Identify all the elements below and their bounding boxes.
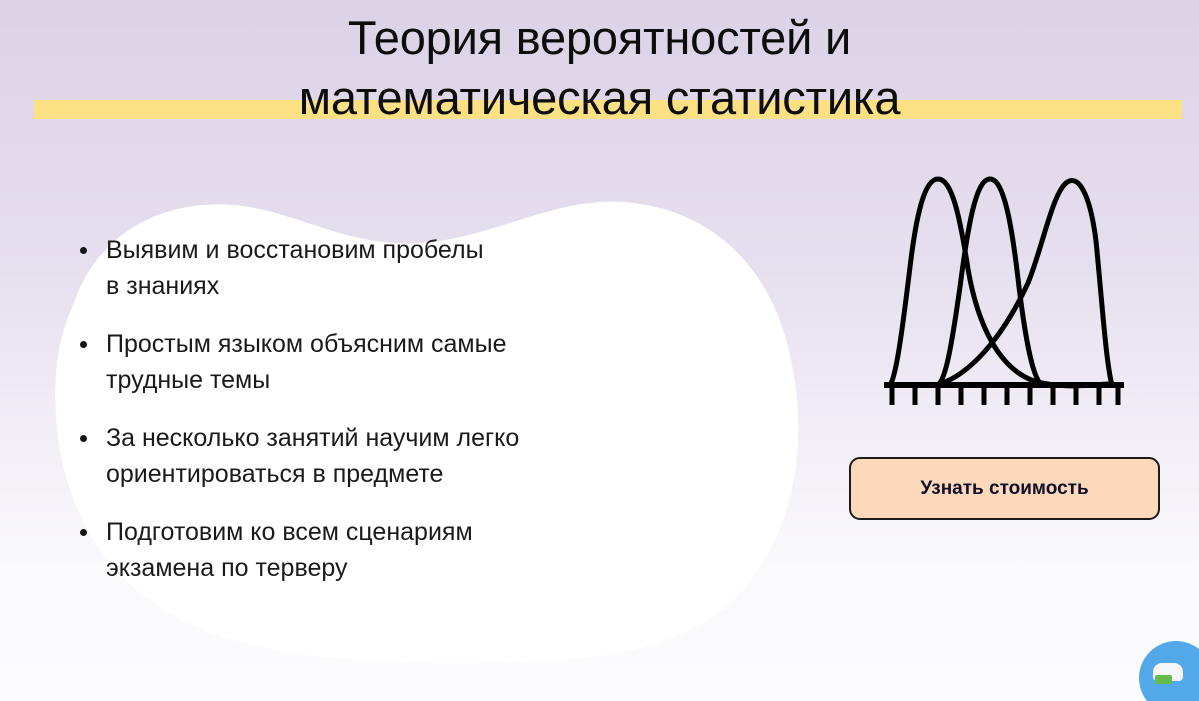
title-highlight-bar <box>34 100 1182 119</box>
bullet-dot-icon <box>80 247 87 254</box>
list-item: Выявим и восстановим пробелы в знаниях <box>72 232 712 304</box>
slide-canvas: Теория вероятностей и математическая ста… <box>0 0 1199 701</box>
chat-accent-shape <box>1155 675 1172 684</box>
list-item-line-2: ориентироваться в предмете <box>106 460 443 488</box>
benefits-list: Выявим и восстановим пробелы в знаниях П… <box>72 232 712 586</box>
list-item-line-1: Подготовим ко всем сценариям <box>106 518 473 546</box>
list-item-line-1: За несколько занятий научим легко <box>106 424 519 452</box>
title-line-2: математическая статистика <box>0 68 1199 128</box>
chat-glyph <box>1153 659 1187 689</box>
bullet-dot-icon <box>80 341 87 348</box>
bullet-dot-icon <box>80 529 87 536</box>
list-item: Простым языком объясним самые трудные те… <box>72 326 712 398</box>
list-item: Подготовим ко всем сценариям экзамена по… <box>72 514 712 586</box>
list-item-line-2: трудные темы <box>106 366 270 394</box>
list-item-line-2: в знаниях <box>106 272 219 300</box>
list-item-line-1: Простым языком объясним самые <box>106 330 506 358</box>
list-item-line-1: Выявим и восстановим пробелы <box>106 236 484 264</box>
list-item: За несколько занятий научим легко ориент… <box>72 420 712 492</box>
bell-curves-chart <box>876 163 1136 411</box>
chat-support-bubble-icon[interactable] <box>1139 641 1199 701</box>
list-item-line-2: экзамена по терверу <box>106 554 347 582</box>
title-line-1: Теория вероятностей и <box>0 8 1199 68</box>
bullet-dot-icon <box>80 435 87 442</box>
learn-price-button[interactable]: Узнать стоимость <box>849 457 1160 520</box>
